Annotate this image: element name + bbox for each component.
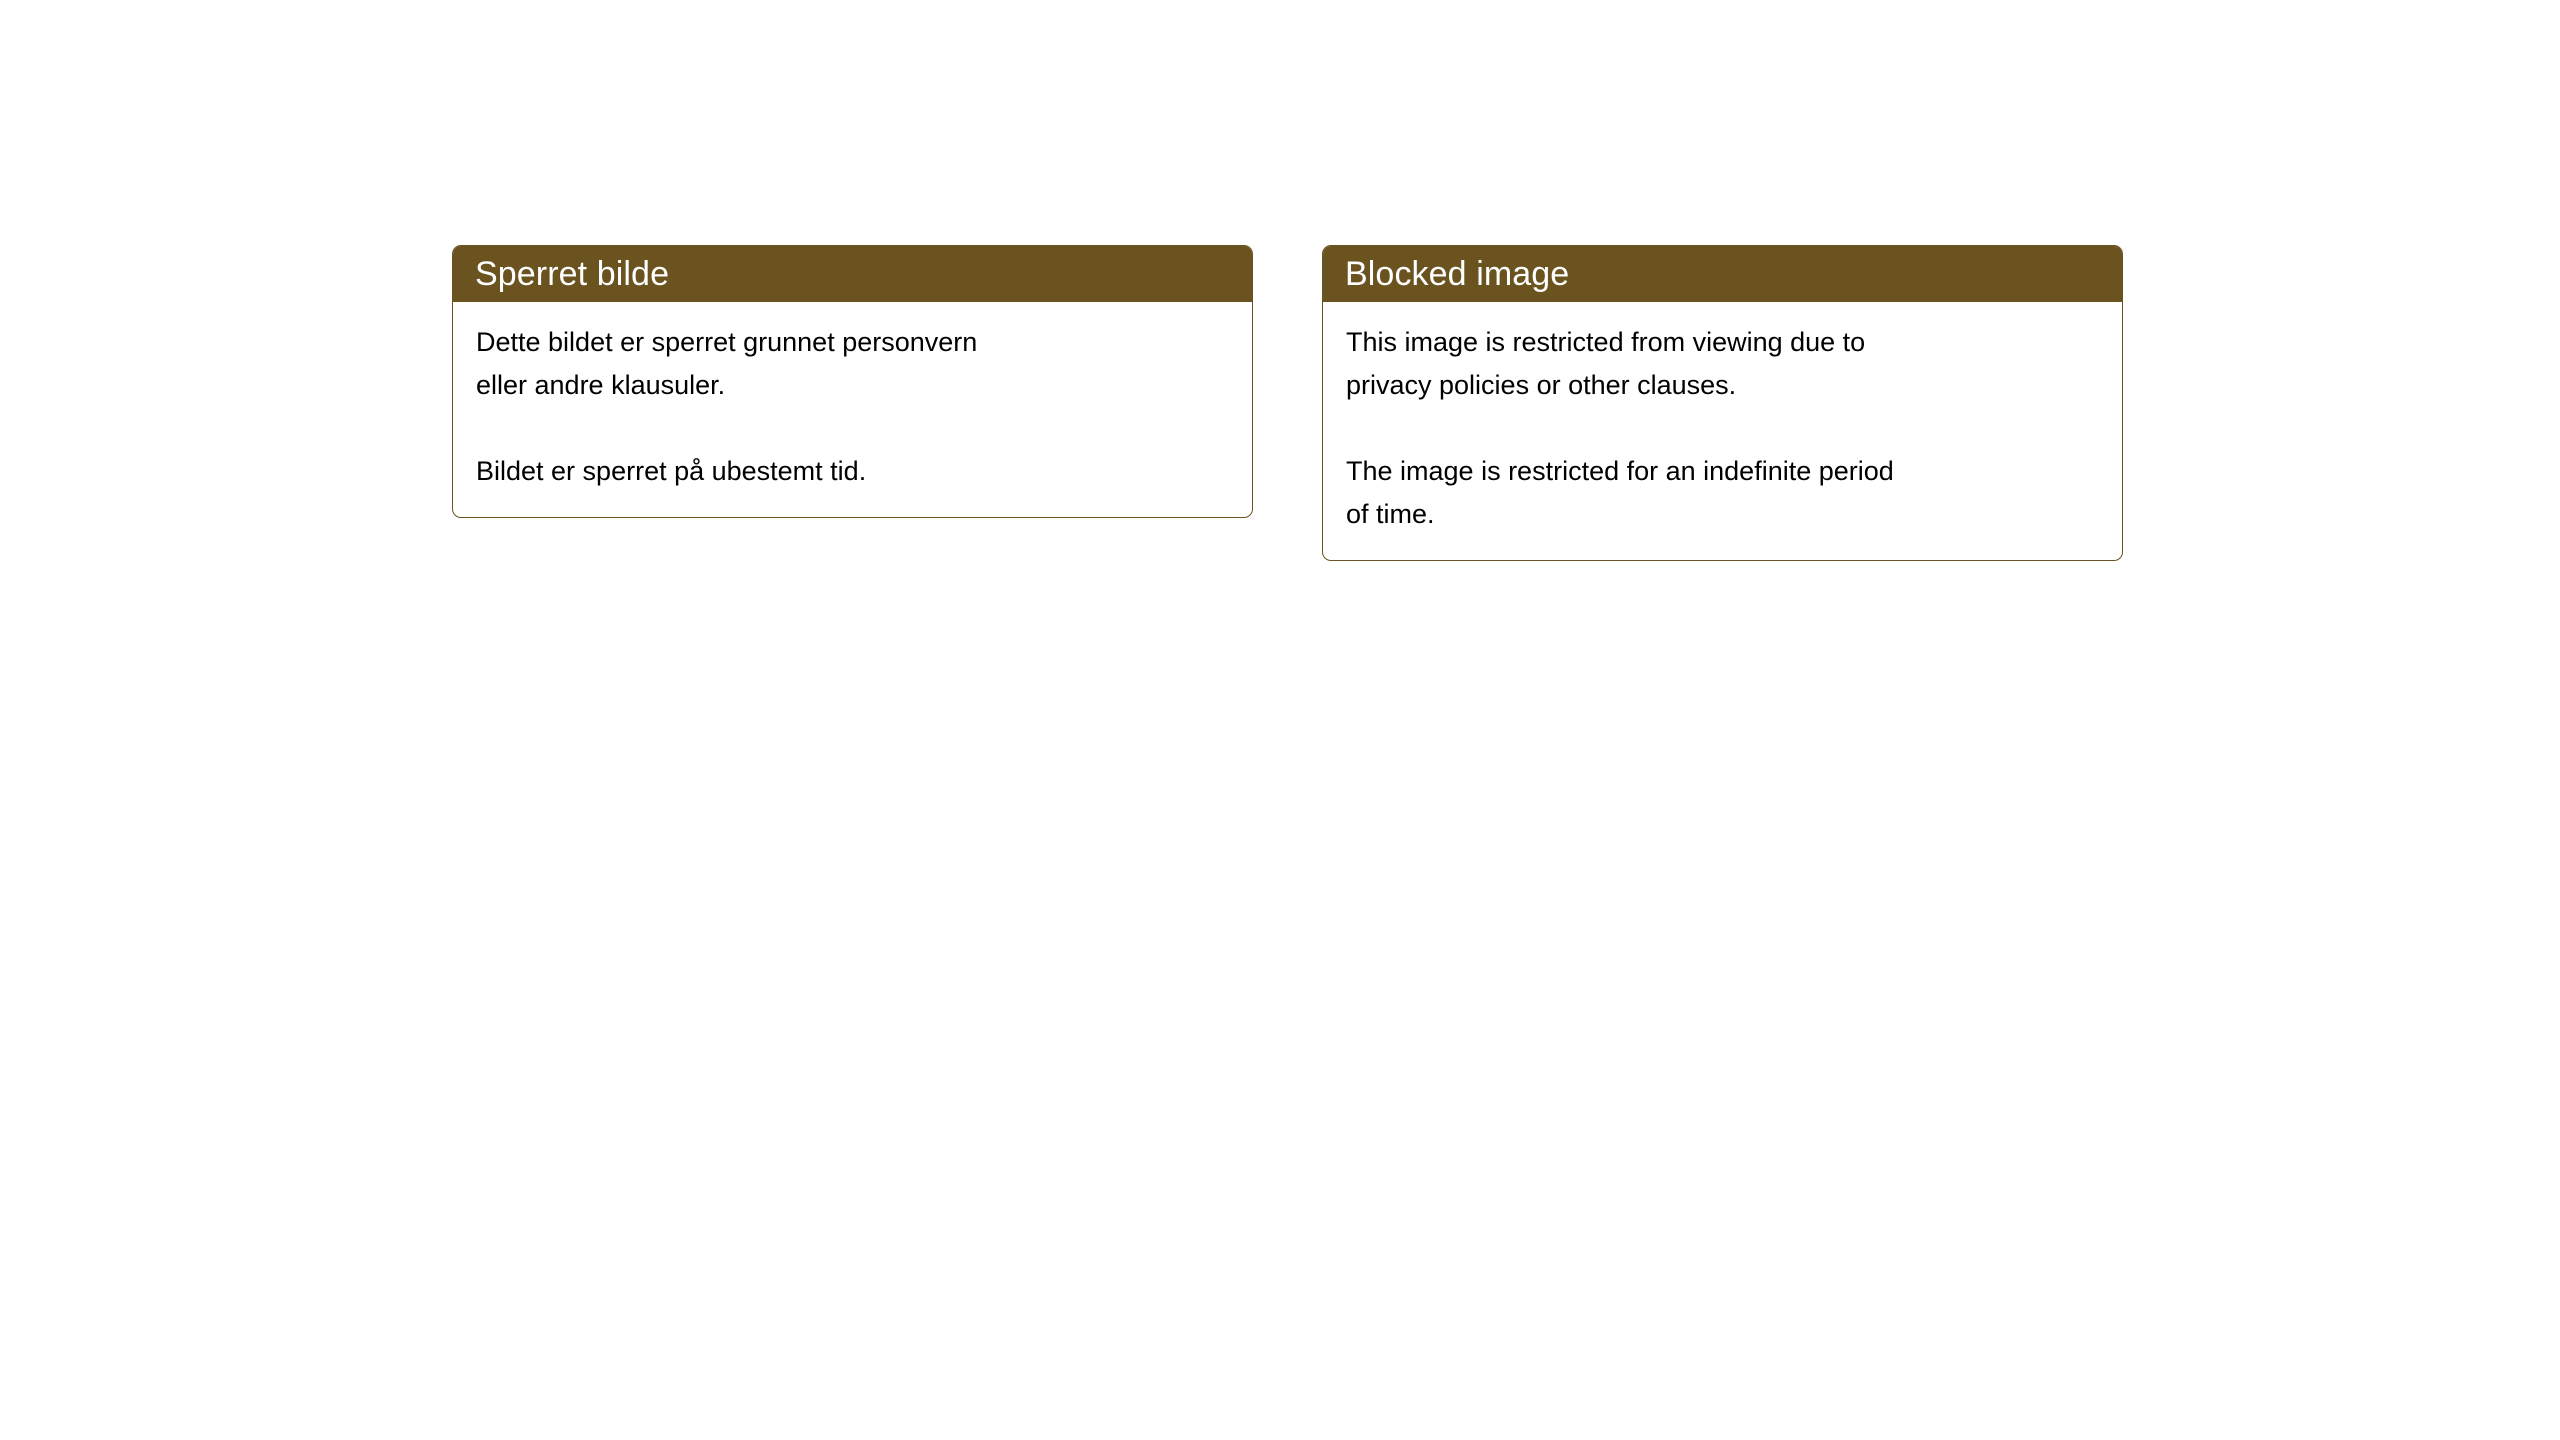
card-paragraph-primary-english: This image is restricted from viewing du… [1346,321,2100,407]
blocked-image-card-english: Blocked image This image is restricted f… [1322,245,2123,561]
paragraph-spacer-english [1346,407,2100,450]
card-body-english: This image is restricted from viewing du… [1323,302,2122,560]
card-paragraph-primary-norwegian: Dette bildet er sperret grunnet personve… [476,321,1230,407]
card-title-norwegian: Sperret bilde [475,255,669,293]
card-body-norwegian: Dette bildet er sperret grunnet personve… [453,302,1252,517]
card-paragraph-secondary-norwegian: Bildet er sperret på ubestemt tid. [476,450,1230,493]
paragraph-spacer-norwegian [476,407,1230,450]
blocked-image-card-norwegian: Sperret bilde Dette bildet er sperret gr… [452,245,1253,518]
card-title-english: Blocked image [1345,255,1569,293]
blocked-image-notice-area: Sperret bilde Dette bildet er sperret gr… [452,245,2142,585]
card-header-norwegian: Sperret bilde [452,245,1253,302]
card-paragraph-secondary-english: The image is restricted for an indefinit… [1346,450,2100,536]
card-header-english: Blocked image [1322,245,2123,302]
